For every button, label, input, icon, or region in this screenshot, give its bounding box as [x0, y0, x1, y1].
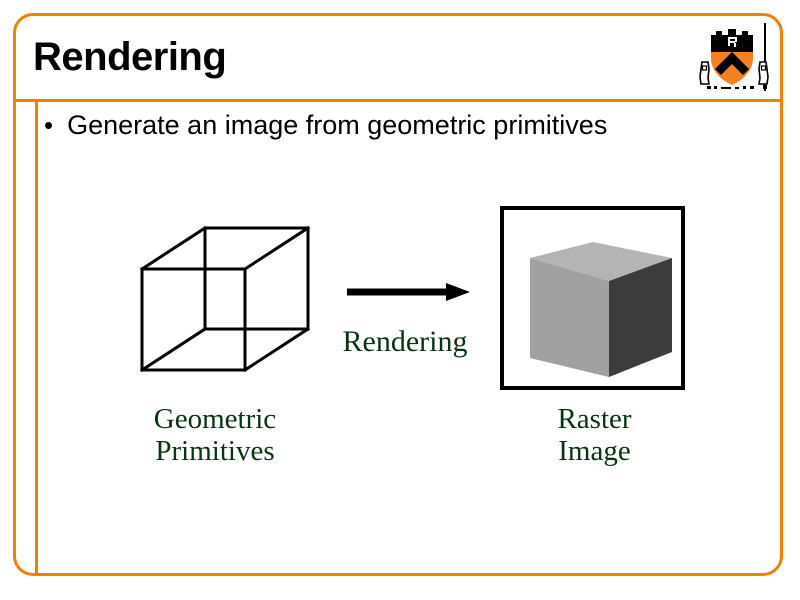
arrow-label: Rendering	[300, 325, 510, 359]
bullet-item: • Generate an image from geometric primi…	[44, 110, 774, 141]
right-panel-caption: Raster Image	[497, 403, 692, 468]
bullet-marker: •	[44, 112, 53, 138]
bullet-label: Generate an image from geometric primiti…	[67, 110, 607, 141]
slide-canvas: Rendering	[0, 0, 800, 600]
left-panel-caption: Geometric Primitives	[100, 403, 330, 468]
title-bar: Rendering	[13, 16, 783, 99]
title-divider	[13, 99, 783, 102]
body-left-rule	[35, 99, 38, 576]
page-title: Rendering	[33, 35, 226, 80]
princeton-shield-logo	[697, 22, 777, 94]
